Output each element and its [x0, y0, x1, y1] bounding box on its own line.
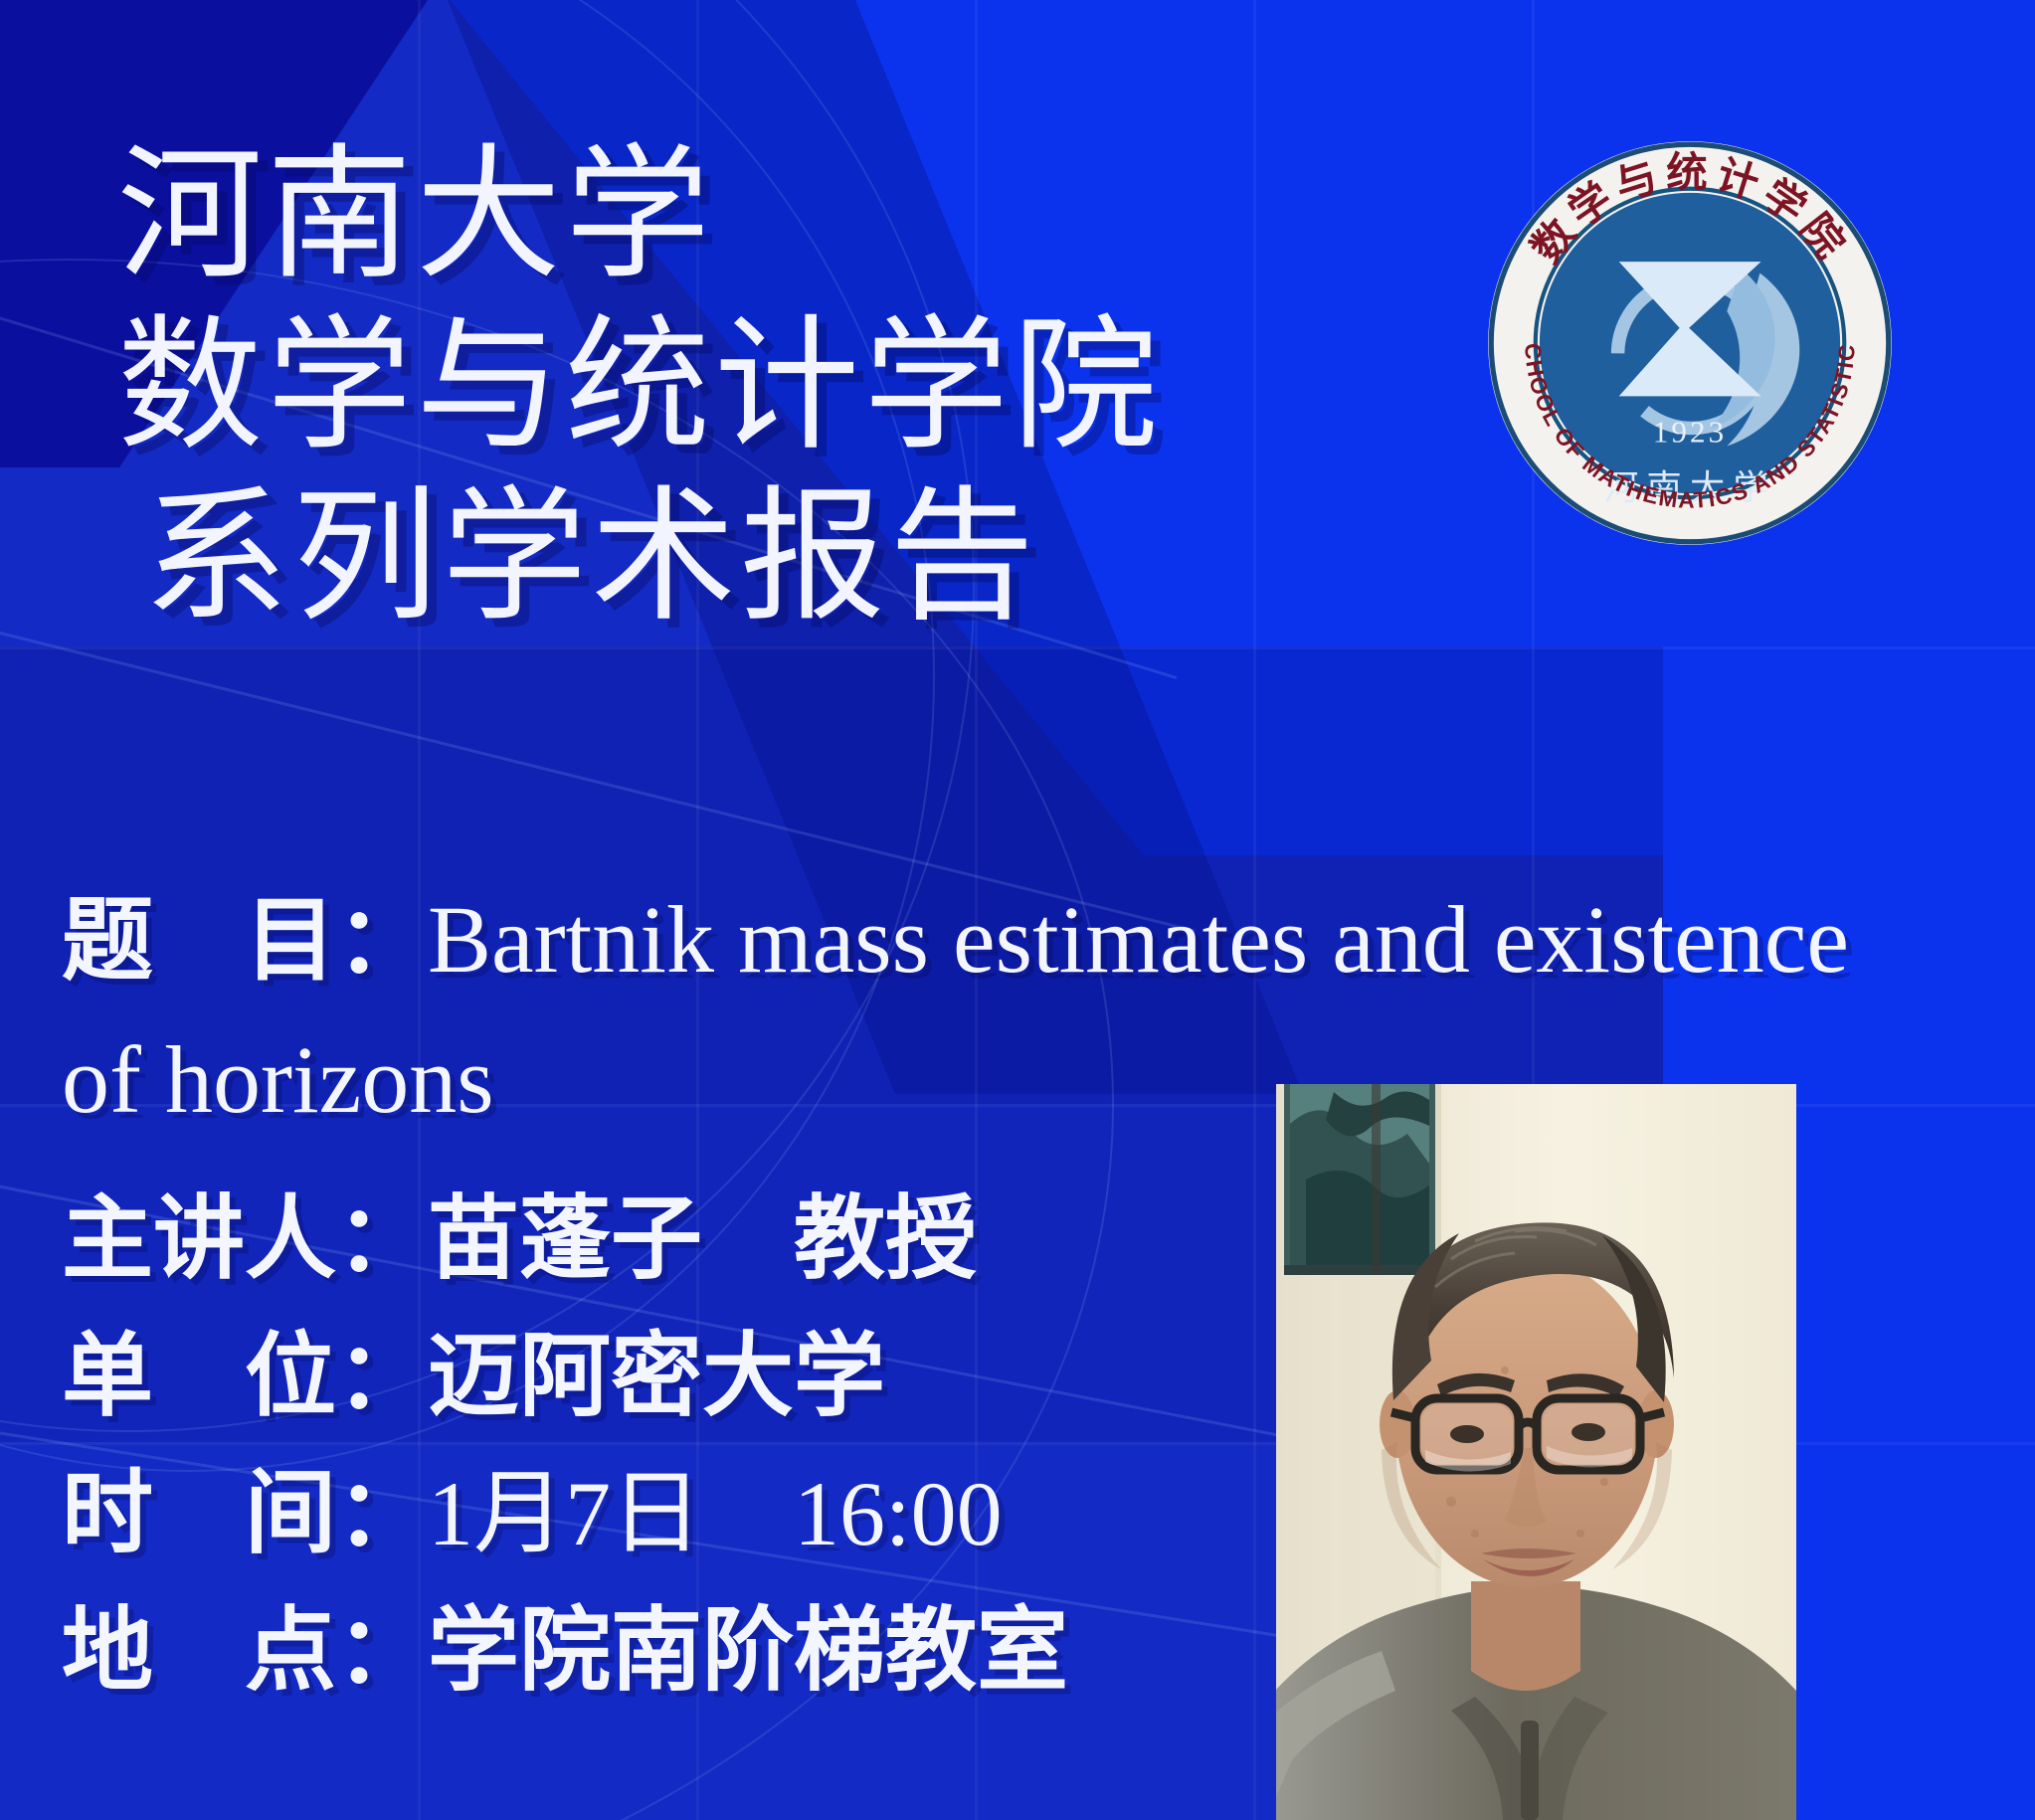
poster-headline: 河南大学 数学与统计学院 系列学术报告: [117, 129, 1291, 642]
title-label: 题 目：: [62, 890, 428, 992]
time-value: 1月7日 16:00: [428, 1463, 1003, 1564]
time-label: 时 间：: [62, 1463, 428, 1564]
logo-year: 1923: [1653, 414, 1728, 449]
place-value: 学院南阶梯教室: [428, 1600, 1068, 1702]
unit-value: 迈阿密大学: [428, 1326, 885, 1427]
speaker-value: 苗蓬子 教授: [428, 1188, 977, 1290]
speaker-label: 主讲人：: [62, 1188, 428, 1290]
seminar-poster: 1923 河南大学 数学与统计学院 SCHOOL OF MATHEMATICS …: [0, 0, 2035, 1820]
unit-label: 单 位：: [62, 1326, 428, 1427]
speaker-portrait-photo: [1276, 1084, 1796, 1820]
headline-line-series: 系列学术报告: [117, 471, 1291, 642]
headline-line-school: 数学与统计学院: [117, 300, 1291, 471]
school-emblem-logo: 1923 河南大学 数学与统计学院 SCHOOL OF MATHEMATICS …: [1484, 137, 1896, 549]
headline-line-university: 河南大学: [117, 129, 1291, 300]
place-label: 地 点：: [62, 1600, 428, 1702]
title-value: Bartnik mass estimates and existence: [428, 886, 1849, 993]
detail-row-title: 题 目：Bartnik mass estimates and existence: [62, 875, 2035, 1005]
